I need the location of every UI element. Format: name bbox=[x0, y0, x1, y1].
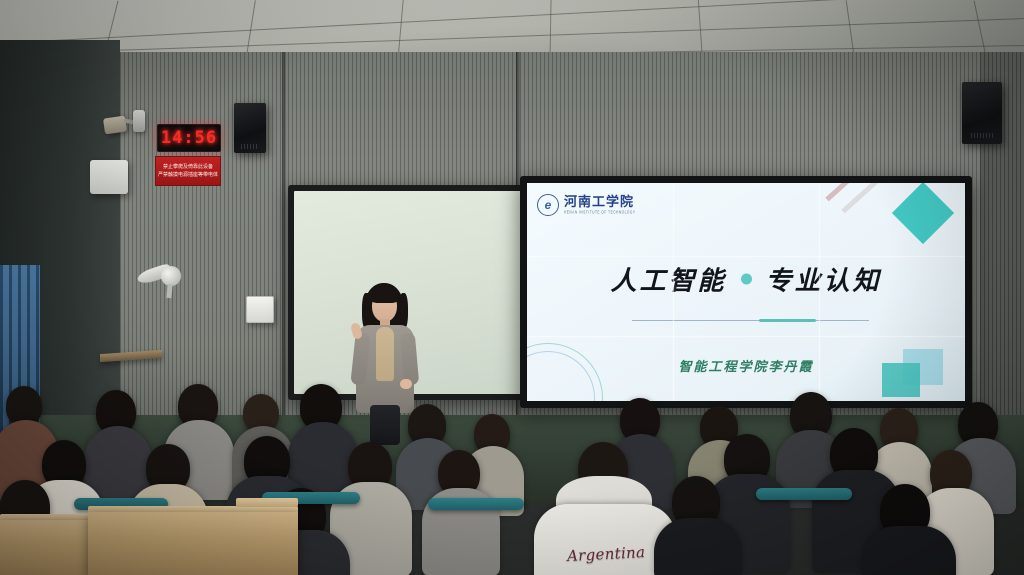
title-separator-dot-icon bbox=[741, 273, 752, 284]
seat-back bbox=[428, 498, 524, 510]
fan-icon bbox=[137, 262, 183, 294]
lecture-hall-photo: 14:56 禁止攀爬及倚靠此设备 严禁触摸电源插座等带电体 e 河南工学院 HE… bbox=[0, 0, 1024, 575]
led-clock: 14:56 bbox=[157, 124, 221, 152]
logo-name-en: HENAN INSTITUTE OF TECHNOLOGY bbox=[564, 211, 635, 215]
panel-seam bbox=[527, 256, 965, 257]
warning-sign: 禁止攀爬及倚靠此设备 严禁触摸电源插座等带电体 bbox=[155, 156, 221, 186]
led-display: e 河南工学院 HENAN INSTITUTE OF TECHNOLOGY 人工… bbox=[520, 176, 972, 408]
lecturer-fringe bbox=[369, 287, 400, 303]
student-body bbox=[862, 526, 956, 575]
slide-subtitle: 智能工程学院李丹霞 bbox=[527, 356, 965, 375]
lecturer-hair-side bbox=[362, 293, 371, 329]
warning-sign-line-2: 严禁触摸电源插座等带电体 bbox=[158, 172, 218, 178]
sensor-icon bbox=[133, 110, 145, 132]
control-panel-icon bbox=[246, 296, 274, 323]
desk bbox=[88, 512, 298, 575]
logo-name-cn: 河南工学院 bbox=[564, 196, 635, 209]
clock-time: 14:56 bbox=[161, 128, 217, 148]
lecturer-arm-right bbox=[400, 332, 419, 385]
university-logo: e 河南工学院 HENAN INSTITUTE OF TECHNOLOGY bbox=[537, 194, 635, 216]
wall-box-icon bbox=[90, 160, 128, 194]
logo-emblem-icon: e bbox=[537, 194, 559, 216]
slide-title-left: 人工智能 bbox=[610, 260, 726, 297]
panel-seam bbox=[527, 336, 965, 337]
presentation-slide: e 河南工学院 HENAN INSTITUTE OF TECHNOLOGY 人工… bbox=[527, 183, 965, 401]
title-divider-accent bbox=[759, 319, 816, 323]
lecturer-hair-side bbox=[399, 293, 408, 329]
seat-back bbox=[756, 488, 852, 500]
desk-surface bbox=[236, 498, 298, 507]
student-body bbox=[654, 518, 742, 575]
decorative-diamond bbox=[892, 183, 954, 244]
lecturer-hand-raised bbox=[350, 322, 363, 340]
speaker-icon bbox=[962, 82, 1002, 144]
panel-seam bbox=[673, 183, 674, 401]
lecturer-inner-top bbox=[376, 327, 394, 381]
slide-title-right: 专业认知 bbox=[766, 260, 882, 297]
speaker-icon bbox=[234, 103, 266, 153]
warning-sign-line-1: 禁止攀爬及倚靠此设备 bbox=[163, 164, 213, 170]
slide-title: 人工智能 专业认知 bbox=[527, 260, 965, 297]
panel-seam bbox=[819, 183, 820, 401]
title-divider-rule bbox=[632, 320, 869, 321]
